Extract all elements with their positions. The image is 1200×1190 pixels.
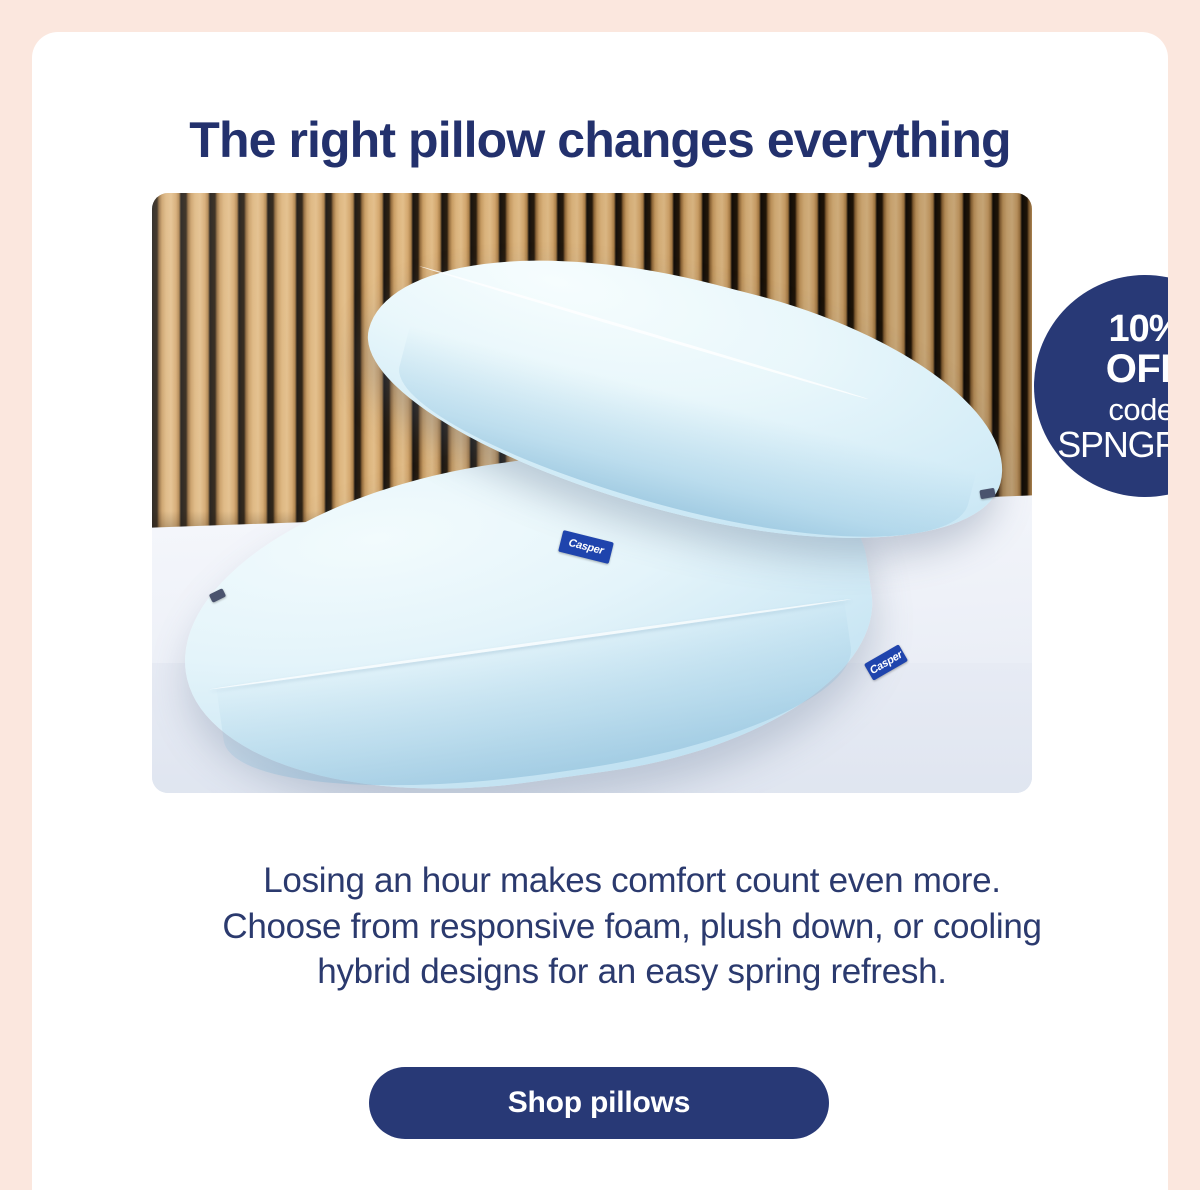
page-title: The right pillow changes everything	[32, 114, 1168, 167]
body-copy: Losing an hour makes comfort count even …	[222, 858, 1042, 995]
promo-discount-badge: 10% OFF code: SPNGFWD	[1034, 275, 1168, 497]
badge-promo-code: SPNGFWD	[1057, 427, 1168, 463]
email-card: The right pillow changes everything Casp…	[32, 32, 1168, 1190]
badge-percent: 10%	[1108, 310, 1168, 348]
badge-code-label: code:	[1108, 394, 1168, 425]
badge-off-label: OFF	[1106, 349, 1168, 389]
shop-pillows-button[interactable]: Shop pillows	[369, 1067, 829, 1139]
hero-product-photo: Casper Casper	[152, 193, 1032, 793]
hero-image-container: Casper Casper 10% OFF code: SPNGFWD	[152, 193, 1032, 793]
pillow-seam	[209, 598, 852, 691]
